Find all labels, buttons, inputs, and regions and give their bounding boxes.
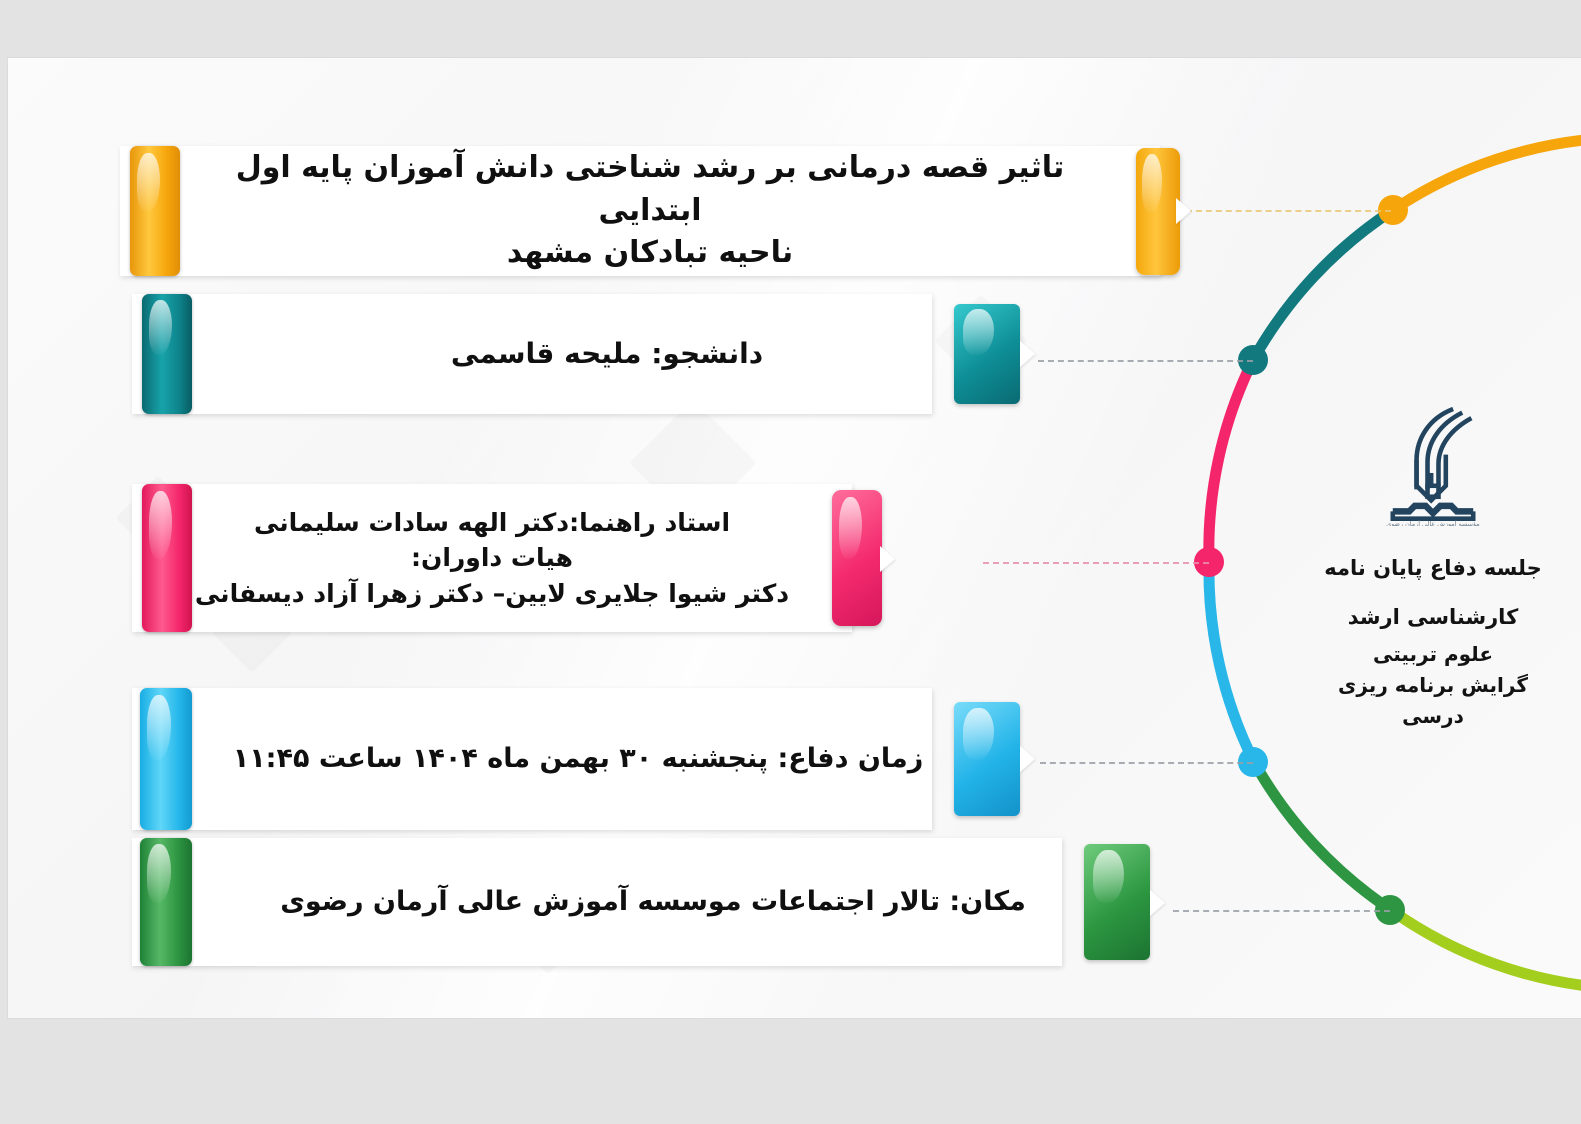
title-accent-cap [1136, 148, 1180, 275]
university-logo-icon: مؤسسه آموزش عالی آرمان رضوی [1377, 398, 1489, 526]
time-text: زمان دفاع: پنجشنبه ۳۰ بهمن ماه ۱۴۰۴ ساعت… [133, 740, 932, 778]
svg-text:مؤسسه آموزش عالی آرمان رضوی: مؤسسه آموزش عالی آرمان رضوی [1386, 519, 1480, 526]
orange-segment [1393, 138, 1581, 210]
location-notch [1150, 890, 1165, 916]
student-notch [1020, 341, 1035, 367]
time-notch [1020, 746, 1035, 772]
time-accent-cap [954, 702, 1020, 816]
time-card[interactable]: زمان دفاع: پنجشنبه ۳۰ بهمن ماه ۱۴۰۴ ساعت… [132, 688, 932, 830]
connector-time [1040, 762, 1253, 764]
student-card[interactable]: دانشجو: ملیحه قاسمی [132, 294, 932, 414]
location-text: مکان: تالار اجتماعات موسسه آموزش عالی آر… [160, 883, 1034, 921]
supervisor-notch [880, 546, 895, 572]
supervisor-accent-cap [832, 490, 882, 626]
teal-segment [1253, 210, 1393, 360]
title-notch [1176, 198, 1191, 224]
row-time: زمان دفاع: پنجشنبه ۳۰ بهمن ماه ۱۴۰۴ ساعت… [132, 688, 932, 830]
supervisor-text: استاد راهنما:دکتر الهه سادات سلیمانی هیا… [185, 505, 799, 612]
panel-line-3: علوم تربیتی گرایش برنامه ریزی درسی [1293, 639, 1573, 732]
row-location: مکان: تالار اجتماعات موسسه آموزش عالی آر… [132, 838, 1062, 966]
location-card[interactable]: مکان: تالار اجتماعات موسسه آموزش عالی آر… [132, 838, 1062, 966]
title-accent-tab [130, 146, 180, 276]
right-info-panel: مؤسسه آموزش عالی آرمان رضوی جلسه دفاع پا… [1293, 398, 1573, 732]
location-accent-tab [140, 838, 192, 966]
connector-location [1173, 910, 1390, 912]
pink-segment [1209, 360, 1253, 562]
supervisor-accent-tab [142, 484, 192, 632]
title-text: تاثیر قصه درمانی بر رشد شناختی دانش آموز… [120, 147, 1160, 275]
slide-canvas: تاثیر قصه درمانی بر رشد شناختی دانش آموز… [0, 0, 1581, 1124]
time-accent-tab [140, 688, 192, 830]
lime-segment [1391, 910, 1581, 988]
location-accent-cap [1084, 844, 1150, 960]
green-segment [1254, 762, 1391, 910]
connector-title [1176, 210, 1391, 212]
student-accent-cap [954, 304, 1020, 404]
panel-line-2: کارشناسی ارشد [1293, 601, 1573, 634]
slide-frame: تاثیر قصه درمانی بر رشد شناختی دانش آموز… [8, 58, 1581, 1018]
row-student: دانشجو: ملیحه قاسمی [132, 294, 932, 414]
title-card[interactable]: تاثیر قصه درمانی بر رشد شناختی دانش آموز… [120, 146, 1160, 276]
connector-student [1038, 360, 1253, 362]
row-title: تاثیر قصه درمانی بر رشد شناختی دانش آموز… [120, 146, 1160, 276]
row-supervisor: استاد راهنما:دکتر الهه سادات سلیمانی هیا… [132, 484, 852, 632]
student-text: دانشجو: ملیحه قاسمی [301, 334, 763, 374]
panel-line-1: جلسه دفاع پایان نامه [1293, 552, 1573, 585]
blue-segment [1209, 562, 1254, 762]
connector-supervisor [983, 562, 1209, 564]
student-accent-tab [142, 294, 192, 414]
supervisor-card[interactable]: استاد راهنما:دکتر الهه سادات سلیمانی هیا… [132, 484, 852, 632]
